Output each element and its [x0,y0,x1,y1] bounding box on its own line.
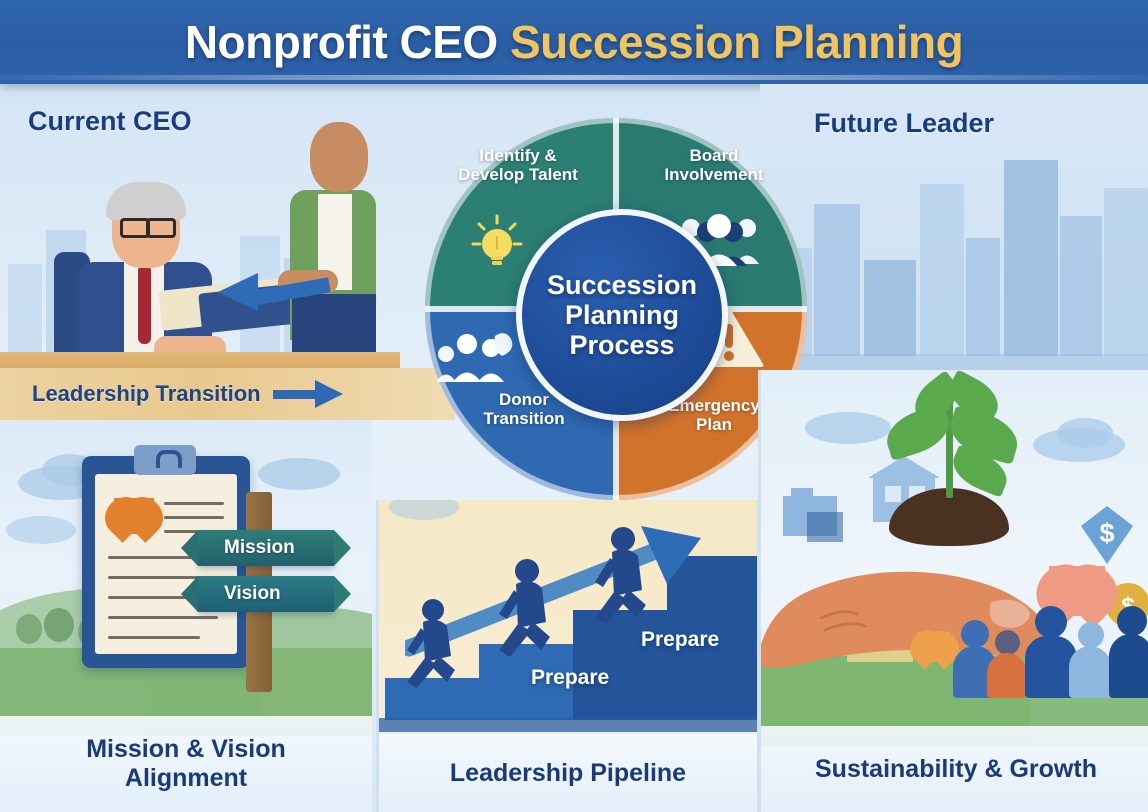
mission-vision-panel: Mission Vision Mission & Vision Alignmen… [0,420,372,812]
heart-icon [114,498,154,534]
climber-figure-1 [399,598,475,688]
quadrant-label-board-involvement: Board Involvement [639,146,789,184]
title-gold-part: Succession Planning [498,16,963,68]
community-figure-5 [1107,606,1148,698]
current-ceo-label: Current CEO [28,106,192,137]
wheel-hub[interactable]: Succession Planning Process [516,209,728,421]
leadership-transition-banner: Leadership Transition [0,368,455,420]
sign-mission-label: Mission [224,537,295,559]
mission-vision-caption: Mission & Vision Alignment [0,716,372,812]
title-white-part: Nonprofit CEO [185,16,498,68]
leadership-pipeline-caption: Leadership Pipeline [379,734,757,812]
poster-header: Nonprofit CEO Succession Planning [0,0,1148,84]
future-leader-zone: Future Leader [760,84,1148,384]
climber-figure-2 [491,558,571,656]
future-leader-label: Future Leader [814,108,994,139]
community-figure-4 [1069,622,1111,698]
sustainability-growth-caption: Sustainability & Growth [761,726,1148,812]
current-ceo-zone: Current CEO [0,84,400,384]
lightbulb-icon [471,214,523,272]
sign-vision-label: Vision [224,583,281,605]
quadrant-label-identify-develop-talent: Identify & Develop Talent [443,146,593,184]
donor-people-icon [433,330,519,382]
prepare-label-1: Prepare [531,666,609,690]
wheel-hub-text: Succession Planning Process [547,270,697,361]
leadership-pipeline-panel: Prepare Prepare Leadership Pipeline [376,500,760,812]
svg-text:$: $ [1099,518,1114,548]
sign-vision[interactable]: Vision [198,576,334,612]
handoff-arrow-icon [218,272,330,312]
infographic-poster: Nonprofit CEO Succession Planning Future… [0,0,1148,812]
sustainability-growth-panel: $ $ [758,370,1148,812]
sign-mission[interactable]: Mission [198,530,334,566]
succession-planning-wheel: Identify & Develop Talent Board Involvem… [425,118,807,500]
mission-vision-signpost: Mission Vision [222,492,372,692]
heart-icon-orange [917,632,951,662]
successor-figure [262,94,392,384]
transition-arrow-icon [273,385,345,403]
page-title: Nonprofit CEO Succession Planning [185,15,963,69]
eyeglasses-icon [120,218,176,232]
community-figure-2 [987,630,1027,696]
prepare-label-2: Prepare [641,628,719,652]
leadership-transition-label: Leadership Transition [32,381,261,407]
dollar-badge-blue: $ [1081,506,1133,564]
climber-figure-3 [585,526,669,626]
